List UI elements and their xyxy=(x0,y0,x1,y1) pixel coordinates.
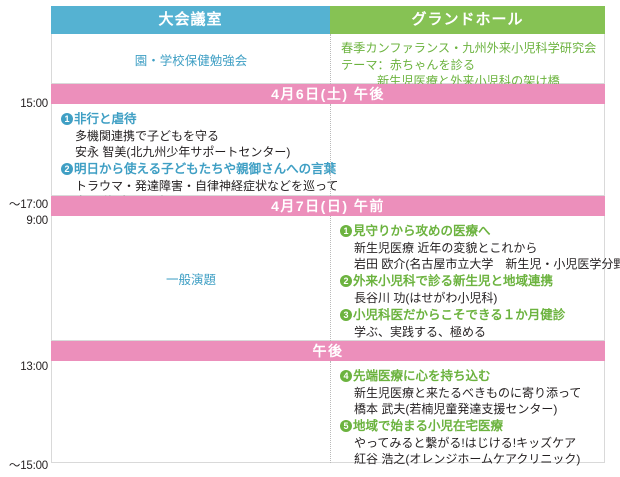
session-title-text: 明日から使える子どもたちや親御さんへの言葉 xyxy=(74,162,336,176)
session-item: 4先端医療に心を持ち込む 新生児医療と来たるべきものに寄り添って 橋本 武夫(若… xyxy=(340,368,596,417)
time-label-1500-end: 〜15:00 xyxy=(0,457,48,473)
intro-cell-right: 春季カンファランス・九州外来小児科学研究会 テーマ：赤ちゃんを診る 新生児医療と… xyxy=(330,34,604,84)
session-title: 1非行と虐待 xyxy=(61,111,322,128)
sunday-pm-cell-right: 4先端医療に心を持ち込む 新生児医療と来たるべきものに寄り添って 橋本 武夫(若… xyxy=(330,361,604,463)
session-subtitle: やってみると繋がる!はじける!キッズケア xyxy=(340,435,596,451)
session-number-icon: 3 xyxy=(340,309,352,321)
session-number-icon: 5 xyxy=(340,420,352,432)
sunday-pm-row: 4先端医療に心を持ち込む 新生児医療と来たるべきものに寄り添って 橋本 武夫(若… xyxy=(51,361,605,463)
sunday-am-row: 一般演題 1見守りから攻めの医療へ 新生児医療 近年の変貌とこれから 岩田 欧介… xyxy=(51,216,605,341)
band-april6-afternoon: 4月6日(土) 午後 xyxy=(51,84,605,104)
intro-cell-left: 園・学校保健勉強会 xyxy=(52,34,330,84)
time-label-1700: 〜17:00 xyxy=(0,196,48,212)
intro-row: 園・学校保健勉強会 春季カンファランス・九州外来小児科学研究会 テーマ：赤ちゃん… xyxy=(51,34,605,84)
band-afternoon: 午後 xyxy=(51,341,605,361)
session-title-text: 小児科医だからこそできる１か月健診 xyxy=(353,308,565,322)
general-presentations-label: 一般演題 xyxy=(52,216,330,341)
session-number-icon: 2 xyxy=(340,275,352,287)
sunday-am-cell-left: 一般演題 xyxy=(52,216,330,341)
sunday-pm-cell-left xyxy=(52,361,330,463)
session-speaker: 安永 智美(北九州少年サポートセンター) xyxy=(61,144,322,160)
session-number-icon: 2 xyxy=(61,163,73,175)
session-subtitle: 新生児医療と来たるべきものに寄り添って xyxy=(340,385,596,401)
saturday-row: 1非行と虐待 多機関連携で子どもを守る 安永 智美(北九州少年サポートセンター)… xyxy=(51,104,605,196)
schedule-grid: 大会議室 グランドホール 園・学校保健勉強会 春季カンファランス・九州外来小児科… xyxy=(51,6,605,470)
intro-left-title: 園・学校保健勉強会 xyxy=(52,34,330,84)
session-speaker: 橋本 武夫(若楠児童発達支援センター) xyxy=(340,401,596,417)
session-title: 1見守りから攻めの医療へ xyxy=(340,223,596,240)
session-number-icon: 4 xyxy=(340,370,352,382)
session-speaker: 長谷川 功(はせがわ小児科) xyxy=(340,290,596,306)
session-title: 5地域で始まる小児在宅医療 xyxy=(340,418,596,435)
session-speaker: 紅谷 浩之(オレンジホームケアクリニック) xyxy=(340,451,596,467)
session-item: 1非行と虐待 多機関連携で子どもを守る 安永 智美(北九州少年サポートセンター) xyxy=(61,111,322,160)
session-item: 5地域で始まる小児在宅医療 やってみると繋がる!はじける!キッズケア 紅谷 浩之… xyxy=(340,418,596,467)
session-title-text: 地域で始まる小児在宅医療 xyxy=(353,419,503,433)
session-title-text: 外来小児科で診る新生児と地域連携 xyxy=(353,274,553,288)
saturday-cell-left: 1非行と虐待 多機関連携で子どもを守る 安永 智美(北九州少年サポートセンター)… xyxy=(52,104,330,196)
column-header-grand-hall: グランドホール xyxy=(330,6,605,34)
sunday-am-cell-right: 1見守りから攻めの医療へ 新生児医療 近年の変貌とこれから 岩田 欧介(名古屋市… xyxy=(330,216,604,341)
session-title-text: 非行と虐待 xyxy=(74,112,137,126)
session-item: 1見守りから攻めの医療へ 新生児医療 近年の変貌とこれから 岩田 欧介(名古屋市… xyxy=(340,223,596,272)
session-title-text: 先端医療に心を持ち込む xyxy=(353,369,491,383)
session-title: 2明日から使える子どもたちや親御さんへの言葉 xyxy=(61,161,322,178)
conference-title: 春季カンファランス・九州外来小児科学研究会 xyxy=(341,40,598,57)
saturday-cell-right xyxy=(330,104,604,196)
session-subtitle: 多機関連携で子どもを守る xyxy=(61,128,322,144)
session-title: 4先端医療に心を持ち込む xyxy=(340,368,596,385)
session-title: 2外来小児科で診る新生児と地域連携 xyxy=(340,273,596,290)
time-label-1300: 13:00 xyxy=(0,361,48,373)
session-number-icon: 1 xyxy=(340,225,352,237)
session-subtitle: トラウマ・発達障害・自律神経症状などを巡って xyxy=(61,178,322,194)
time-label-0900: 9:00 xyxy=(0,215,48,227)
session-item: 2外来小児科で診る新生児と地域連携 長谷川 功(はせがわ小児科) xyxy=(340,273,596,306)
conference-theme: テーマ：赤ちゃんを診る xyxy=(341,57,598,74)
session-subtitle: 学ぶ、実践する、極める xyxy=(340,324,596,340)
band-april7-morning: 4月7日(日) 午前 xyxy=(51,196,605,216)
column-headers: 大会議室 グランドホール xyxy=(51,6,605,34)
column-header-main-hall: 大会議室 xyxy=(51,6,330,34)
session-number-icon: 1 xyxy=(61,113,73,125)
session-subtitle: 新生児医療 近年の変貌とこれから xyxy=(340,240,596,256)
session-speaker: 岩田 欧介(名古屋市立大学 新生児・小児医学分野) xyxy=(340,256,596,272)
time-axis: 15:00 〜17:00 9:00 13:00 〜15:00 xyxy=(0,0,48,477)
schedule-table: 15:00 〜17:00 9:00 13:00 〜15:00 大会議室 グランド… xyxy=(0,0,620,477)
time-label-1500: 15:00 xyxy=(0,98,48,110)
session-title-text: 見守りから攻めの医療へ xyxy=(353,224,491,238)
session-title: 3小児科医だからこそできる１か月健診 xyxy=(340,307,596,324)
sunday-pm-session-list: 4先端医療に心を持ち込む 新生児医療と来たるべきものに寄り添って 橋本 武夫(若… xyxy=(331,361,604,475)
